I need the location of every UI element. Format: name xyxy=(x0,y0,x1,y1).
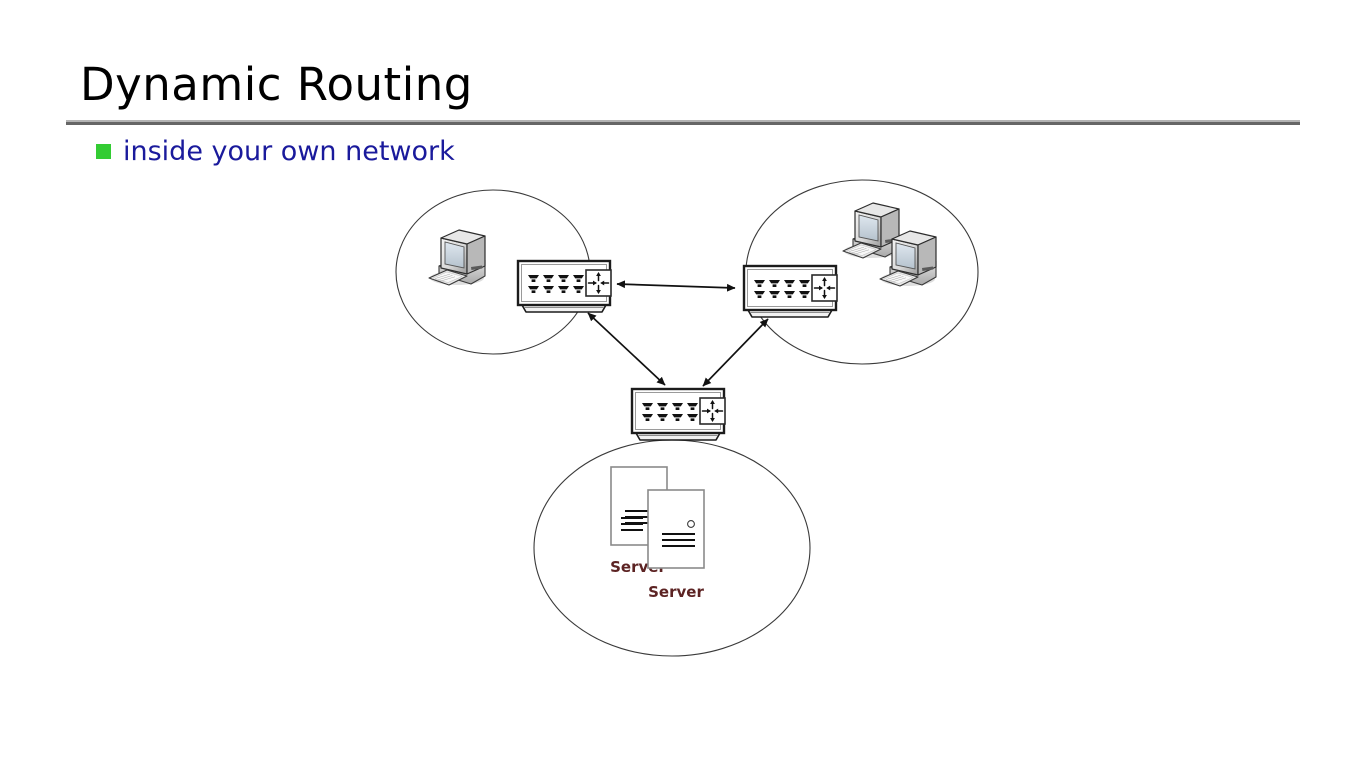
network-zone-bottom xyxy=(534,440,810,656)
bullet-list-item: inside your own network xyxy=(96,138,455,165)
server-back xyxy=(611,463,667,545)
server-back-label: Server xyxy=(610,558,666,576)
workstation-right-upper xyxy=(843,203,899,258)
network-zone-right xyxy=(746,180,978,364)
router-left xyxy=(518,261,611,312)
link-left-right xyxy=(617,284,735,288)
green-square-bullet-icon xyxy=(96,144,111,159)
network-zone-left xyxy=(396,190,590,354)
topology-links xyxy=(588,284,768,386)
router-bottom xyxy=(632,389,725,440)
router-right xyxy=(744,266,837,317)
network-topology-diagram: Server Server xyxy=(0,0,1366,768)
workstation-right-lower xyxy=(880,231,936,286)
bullet-item-label: inside your own network xyxy=(123,138,455,165)
server-front-label: Server xyxy=(648,583,704,601)
link-left-bottom xyxy=(588,313,665,385)
page-title: Dynamic Routing xyxy=(80,62,473,107)
title-divider-shadow xyxy=(66,122,1300,125)
workstation-left xyxy=(429,230,485,285)
server-front xyxy=(648,490,704,568)
link-right-bottom xyxy=(703,319,768,386)
server-back-indicator xyxy=(621,518,643,530)
title-divider xyxy=(66,120,1300,125)
